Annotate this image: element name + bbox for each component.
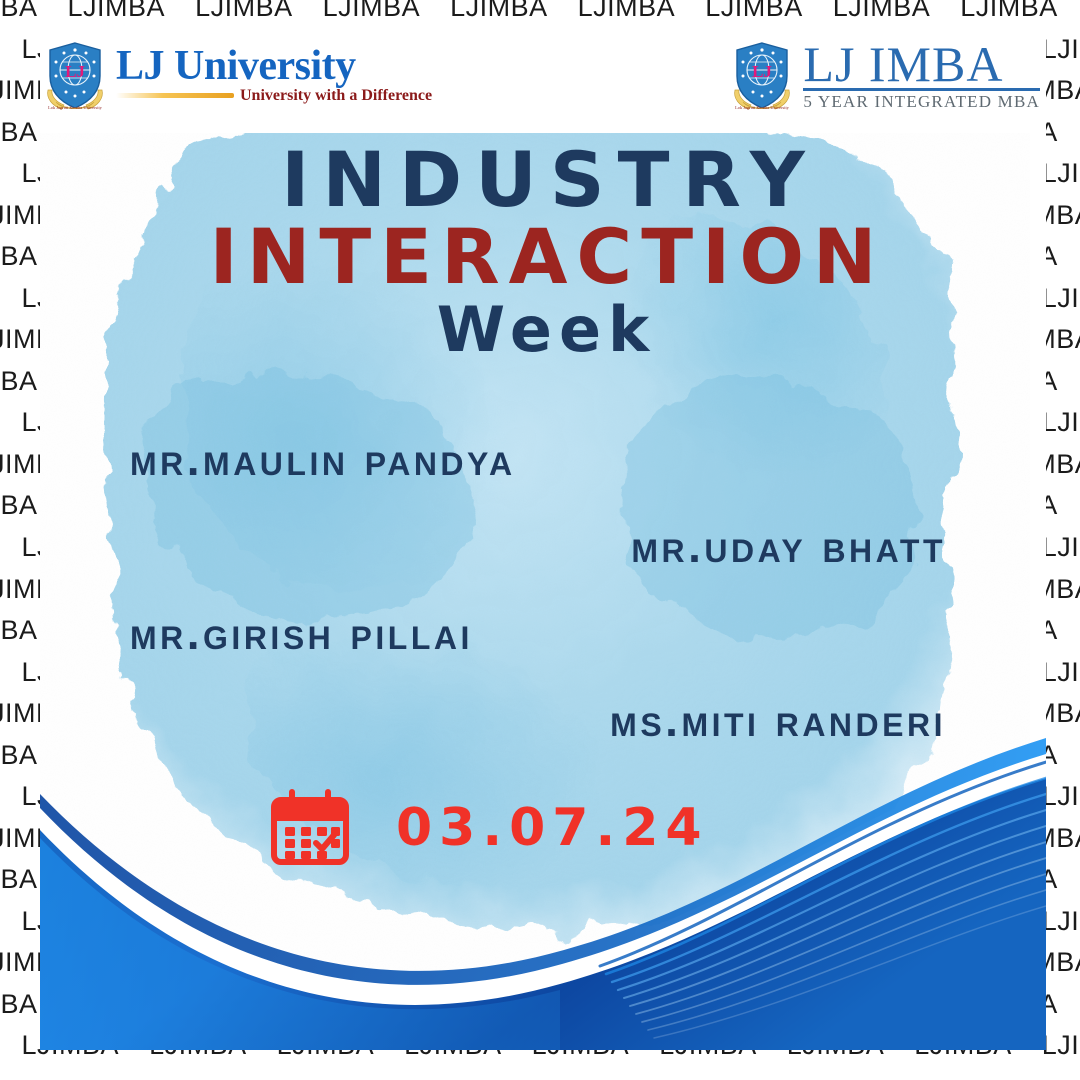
svg-text:Lok Jagruti Kendra University: Lok Jagruti Kendra University bbox=[48, 105, 103, 110]
title-line-week: Week bbox=[40, 296, 1046, 364]
title-line-interaction: INTERACTION bbox=[40, 216, 1046, 298]
speaker-name: Mr.Uday Bhatt bbox=[130, 523, 946, 569]
lj-university-tagline: University with a Difference bbox=[240, 87, 432, 105]
calendar-icon bbox=[268, 786, 352, 870]
poster-header: LJ Lok Jagruti Kendra University LJ Univ… bbox=[40, 28, 1046, 133]
speaker-name: Mr.Maulin Pandya bbox=[130, 436, 946, 482]
lj-imba-wordmark: LJ IMBA bbox=[803, 41, 1040, 87]
lj-university-crest-icon: LJ Lok Jagruti Kendra University bbox=[44, 40, 106, 112]
lj-university-wordmark: LJ University bbox=[116, 47, 432, 87]
lj-imba-logo: LJ Lok Jagruti Kendra University LJ IMBA… bbox=[731, 40, 1040, 112]
speaker-name: Ms.Miti Randeri bbox=[130, 697, 946, 743]
lj-imba-tagline: 5 YEAR INTEGRATED MBA bbox=[803, 92, 1040, 112]
svg-text:LJ: LJ bbox=[752, 62, 772, 81]
gold-accent-bar bbox=[116, 93, 234, 98]
speaker-name: Mr.Girish Pillai bbox=[130, 610, 946, 656]
lj-imba-crest-icon: LJ Lok Jagruti Kendra University bbox=[731, 40, 793, 112]
event-date-row: 03.07.24 bbox=[268, 786, 709, 870]
svg-text:Lok Jagruti Kendra University: Lok Jagruti Kendra University bbox=[736, 105, 791, 110]
poster-card: LJ Lok Jagruti Kendra University LJ Univ… bbox=[40, 28, 1046, 1050]
svg-text:LJ: LJ bbox=[65, 62, 85, 81]
watermark-row: LJIMBALJIMBALJIMBALJIMBALJIMBALJIMBALJIM… bbox=[0, 0, 1080, 23]
poster-title: INDUSTRY INTERACTION Week bbox=[40, 140, 1046, 364]
event-date-value: 03.07.24 bbox=[396, 798, 709, 858]
lj-university-logo: LJ Lok Jagruti Kendra University LJ Univ… bbox=[44, 40, 432, 112]
title-line-industry: INDUSTRY bbox=[40, 140, 1046, 220]
speaker-list: Mr.Maulin Pandya Mr.Uday Bhatt Mr.Girish… bbox=[40, 436, 1046, 784]
